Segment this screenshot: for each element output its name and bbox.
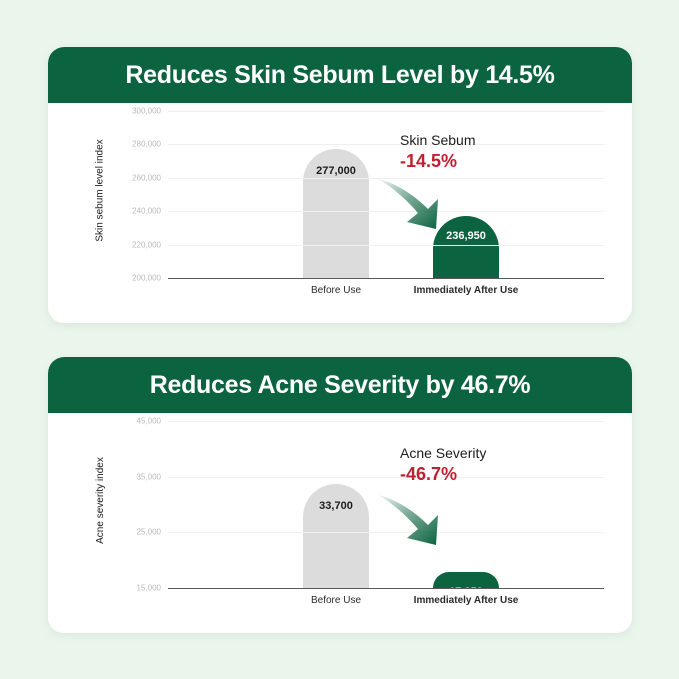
axis-baseline: 15,000: [168, 588, 604, 589]
gridline: 300,000: [168, 111, 604, 112]
stat-card-acne-severity: Reduces Acne Severity by 46.7% Acne seve…: [48, 357, 632, 633]
gridline: 280,000: [168, 144, 604, 145]
card-header-skin-sebum: Reduces Skin Sebum Level by 14.5%: [48, 47, 632, 103]
y-tick-label: 15,000: [137, 584, 161, 593]
gridline: 25,000: [168, 532, 604, 533]
x-category-label: Before Use: [311, 595, 361, 606]
y-tick-label: 25,000: [137, 528, 161, 537]
bar-immediately-after-use: 17,950: [433, 572, 499, 588]
annotation-delta: -14.5%: [400, 150, 475, 172]
annotation-delta: -46.7%: [400, 463, 486, 485]
bar-before-use: 277,000: [303, 149, 369, 278]
gridline: 45,000: [168, 421, 604, 422]
gridline: 260,000: [168, 178, 604, 179]
bar-immediately-after-use: 236,950: [433, 216, 499, 278]
card-title: Reduces Acne Severity by 46.7%: [150, 371, 531, 400]
bar-before-use: 33,700: [303, 484, 369, 588]
x-category-label: Before Use: [311, 285, 361, 296]
annotation-label: Skin Sebum: [400, 131, 475, 150]
gridline: 220,000: [168, 245, 604, 246]
y-tick-label: 200,000: [132, 274, 161, 283]
y-tick-label: 35,000: [137, 472, 161, 481]
y-tick-label: 300,000: [132, 107, 161, 116]
card-body-skin-sebum: Skin sebum level index 236,950277,000200…: [48, 103, 632, 323]
infographic-page: Reduces Skin Sebum Level by 14.5% Skin s…: [0, 0, 679, 679]
y-axis-title: Skin sebum level index: [92, 103, 108, 278]
gridline: 240,000: [168, 211, 604, 212]
axis-baseline: 200,000: [168, 278, 604, 279]
annotation-acne-severity: Acne Severity -46.7%: [400, 444, 486, 485]
y-tick-label: 260,000: [132, 173, 161, 182]
y-tick-label: 45,000: [137, 417, 161, 426]
x-category-label: Immediately After Use: [414, 595, 519, 606]
annotation-label: Acne Severity: [400, 444, 486, 463]
plot-area: 17,95033,70015,00025,00035,00045,000 Acn…: [168, 421, 604, 588]
bar-value-label: 236,950: [433, 230, 499, 242]
y-tick-label: 240,000: [132, 207, 161, 216]
bar-chart-skin-sebum: Skin sebum level index 236,950277,000200…: [48, 103, 632, 323]
bar-value-label: 277,000: [303, 165, 369, 177]
bar-chart-acne-severity: Acne severity index 17,95033,70015,00025…: [48, 413, 632, 633]
y-tick-label: 220,000: [132, 240, 161, 249]
y-axis-title-text: Skin sebum level index: [95, 139, 106, 241]
card-header-acne-severity: Reduces Acne Severity by 46.7%: [48, 357, 632, 413]
bar-value-label: 33,700: [303, 500, 369, 512]
y-axis-title: Acne severity index: [92, 413, 108, 588]
annotation-skin-sebum: Skin Sebum -14.5%: [400, 131, 475, 172]
y-tick-label: 280,000: [132, 140, 161, 149]
y-axis-title-text: Acne severity index: [95, 457, 106, 544]
gridline: 35,000: [168, 477, 604, 478]
card-title: Reduces Skin Sebum Level by 14.5%: [125, 61, 554, 90]
x-category-label: Immediately After Use: [414, 285, 519, 296]
down-right-arrow-icon: [376, 493, 456, 549]
card-body-acne-severity: Acne severity index 17,95033,70015,00025…: [48, 413, 632, 633]
plot-area: 236,950277,000200,000220,000240,000260,0…: [168, 111, 604, 278]
stat-card-skin-sebum: Reduces Skin Sebum Level by 14.5% Skin s…: [48, 47, 632, 323]
